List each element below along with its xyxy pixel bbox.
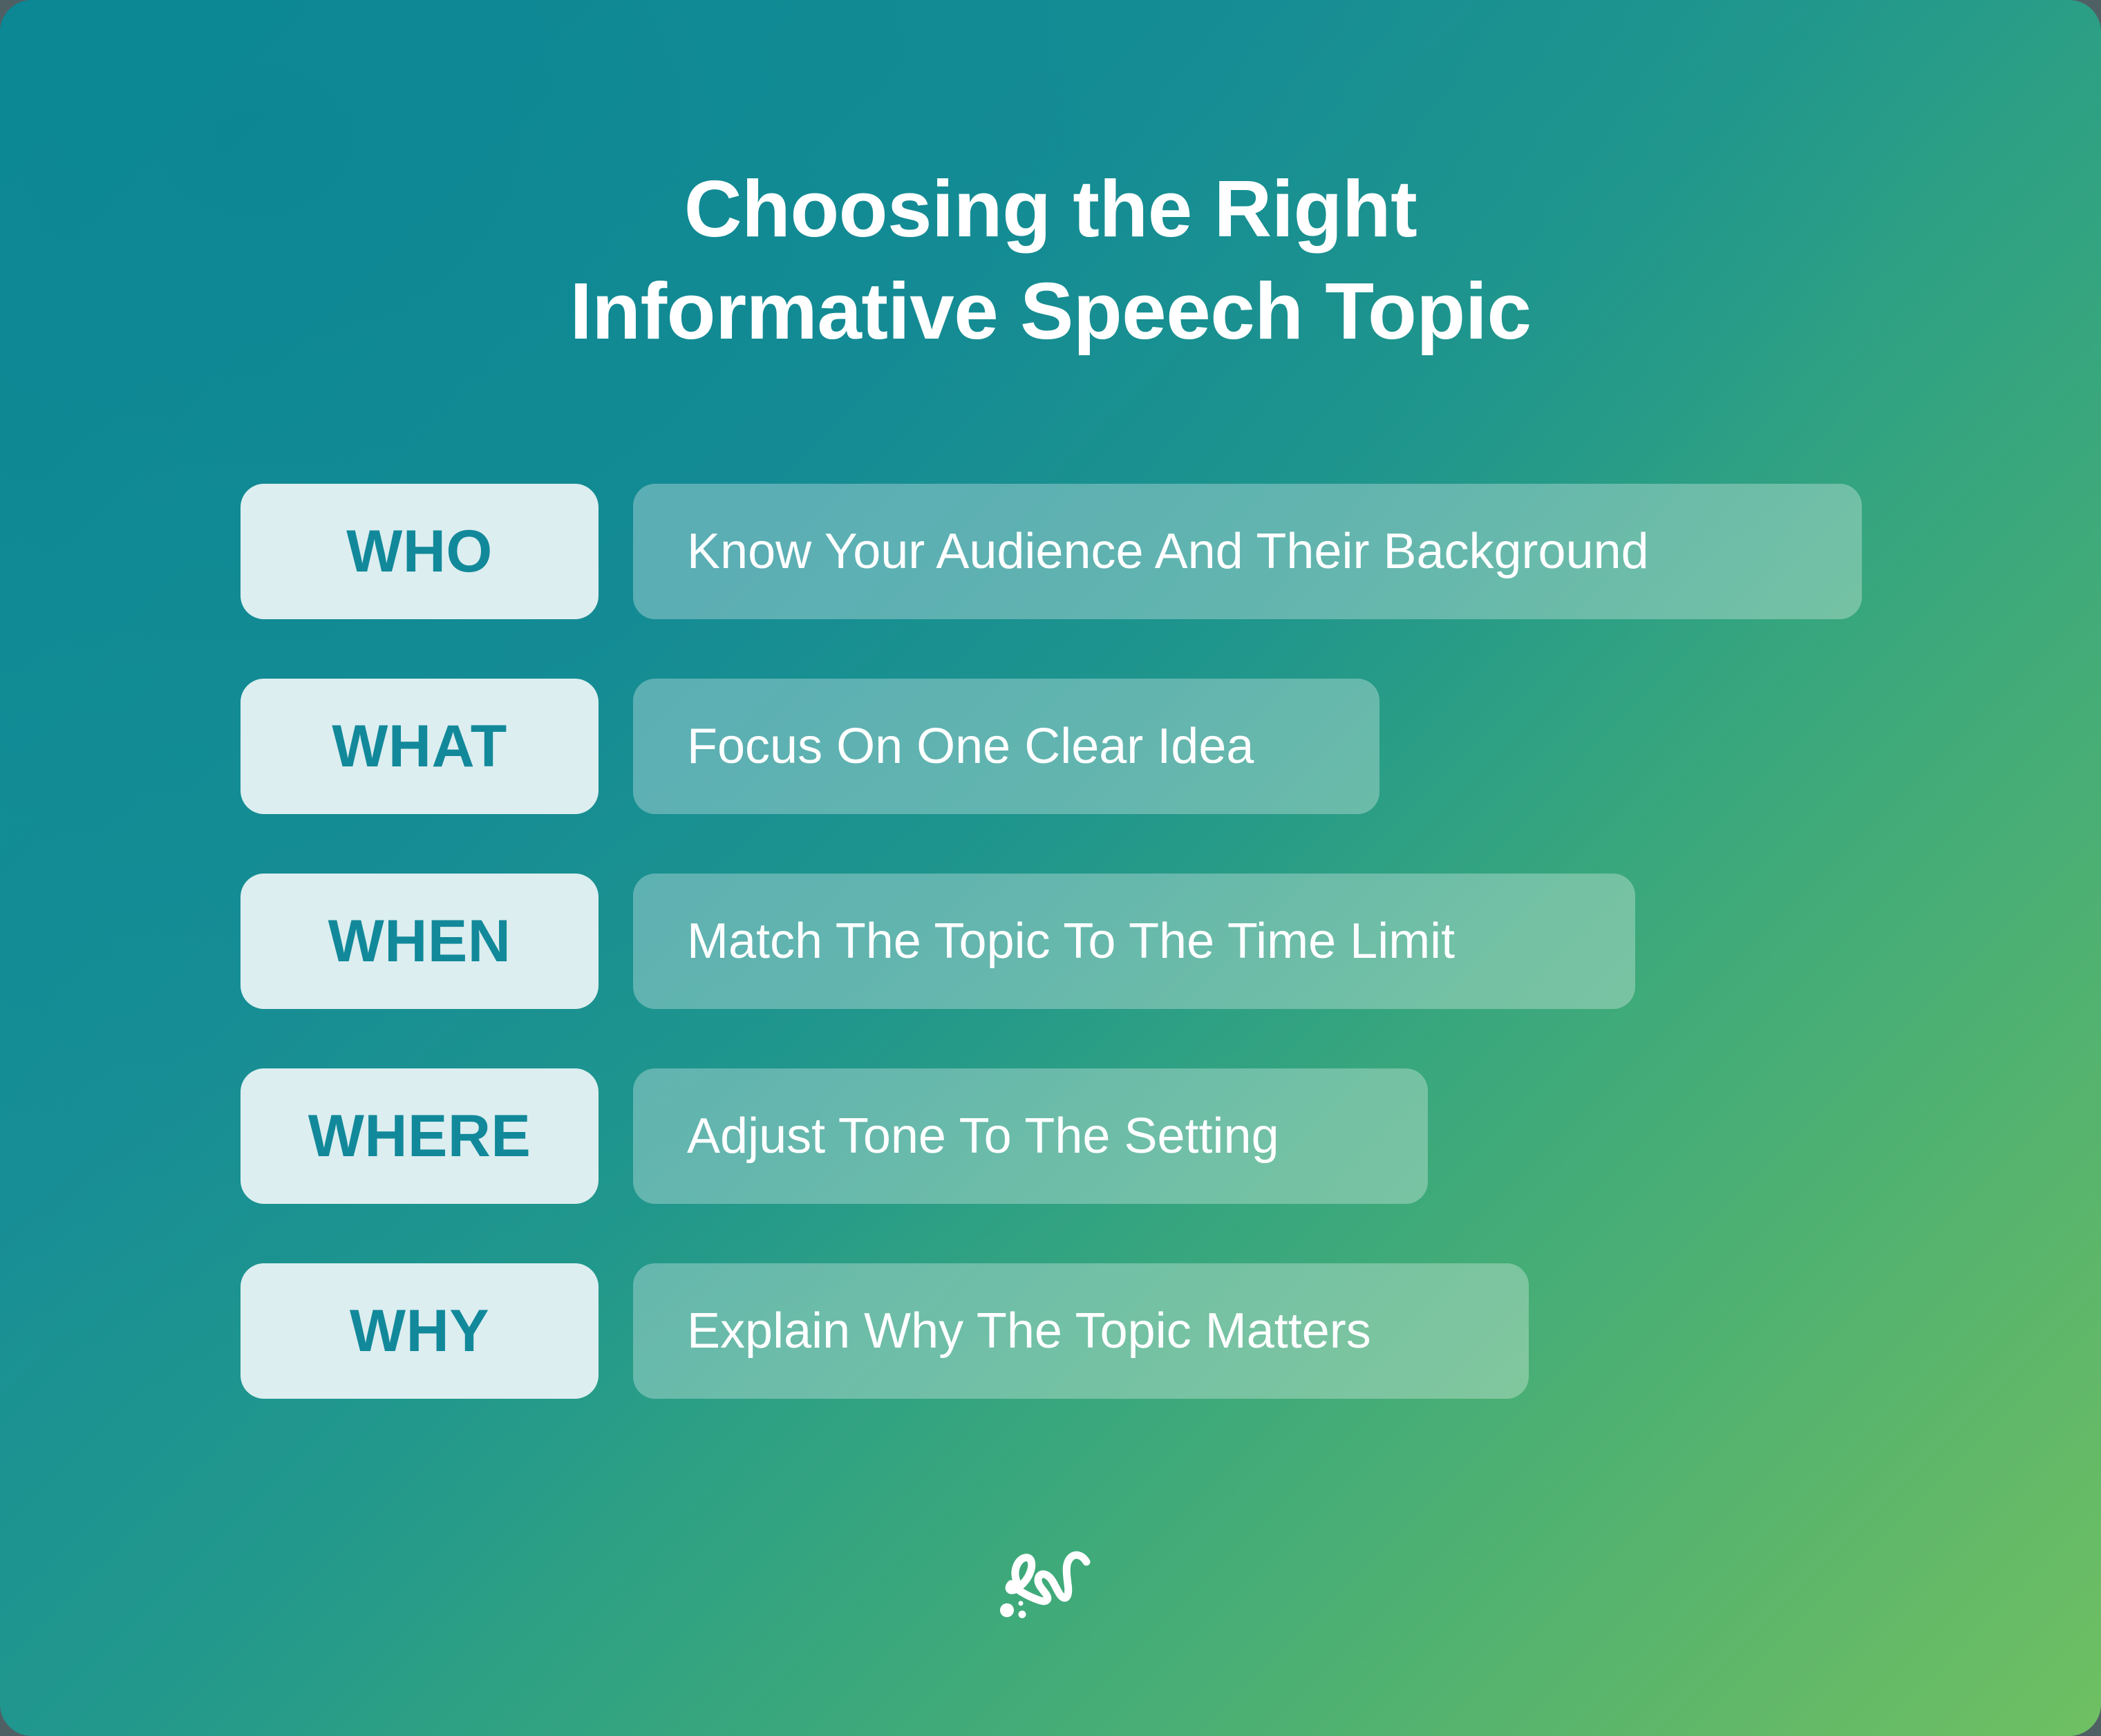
wh-question-list: WHO Know Your Audience And Their Backgro… <box>241 484 1862 1399</box>
description-pill-who[interactable]: Know Your Audience And Their Background <box>633 484 1862 619</box>
description-text: Focus On One Clear Idea <box>687 721 1254 771</box>
label-text: WHAT <box>332 717 507 776</box>
label-pill-when[interactable]: WHEN <box>241 874 599 1009</box>
description-pill-when[interactable]: Match The Topic To The Time Limit <box>633 874 1635 1009</box>
label-text: WHO <box>346 522 493 581</box>
label-pill-why[interactable]: WHY <box>241 1263 599 1399</box>
description-pill-why[interactable]: Explain Why The Topic Matters <box>633 1263 1529 1399</box>
list-item: WHO Know Your Audience And Their Backgro… <box>241 484 1862 619</box>
infographic-poster: Choosing the Right Informative Speech To… <box>0 0 2101 1736</box>
list-item: WHY Explain Why The Topic Matters <box>241 1263 1862 1399</box>
brand-logo <box>992 1540 1109 1630</box>
description-text: Know Your Audience And Their Background <box>687 527 1649 576</box>
label-pill-what[interactable]: WHAT <box>241 679 599 814</box>
label-text: WHEN <box>328 912 511 971</box>
squiggle-signature-icon <box>992 1540 1109 1630</box>
label-text: WHERE <box>308 1106 531 1166</box>
description-text: Match The Topic To The Time Limit <box>687 916 1455 966</box>
page-title: Choosing the Right Informative Speech To… <box>0 158 2101 363</box>
description-pill-where[interactable]: Adjust Tone To The Setting <box>633 1068 1428 1204</box>
description-pill-what[interactable]: Focus On One Clear Idea <box>633 679 1379 814</box>
label-text: WHY <box>350 1301 489 1361</box>
list-item: WHAT Focus On One Clear Idea <box>241 679 1862 814</box>
label-pill-who[interactable]: WHO <box>241 484 599 619</box>
list-item: WHEN Match The Topic To The Time Limit <box>241 874 1862 1009</box>
list-item: WHERE Adjust Tone To The Setting <box>241 1068 1862 1204</box>
description-text: Adjust Tone To The Setting <box>687 1111 1279 1161</box>
label-pill-where[interactable]: WHERE <box>241 1068 599 1204</box>
description-text: Explain Why The Topic Matters <box>687 1306 1371 1356</box>
